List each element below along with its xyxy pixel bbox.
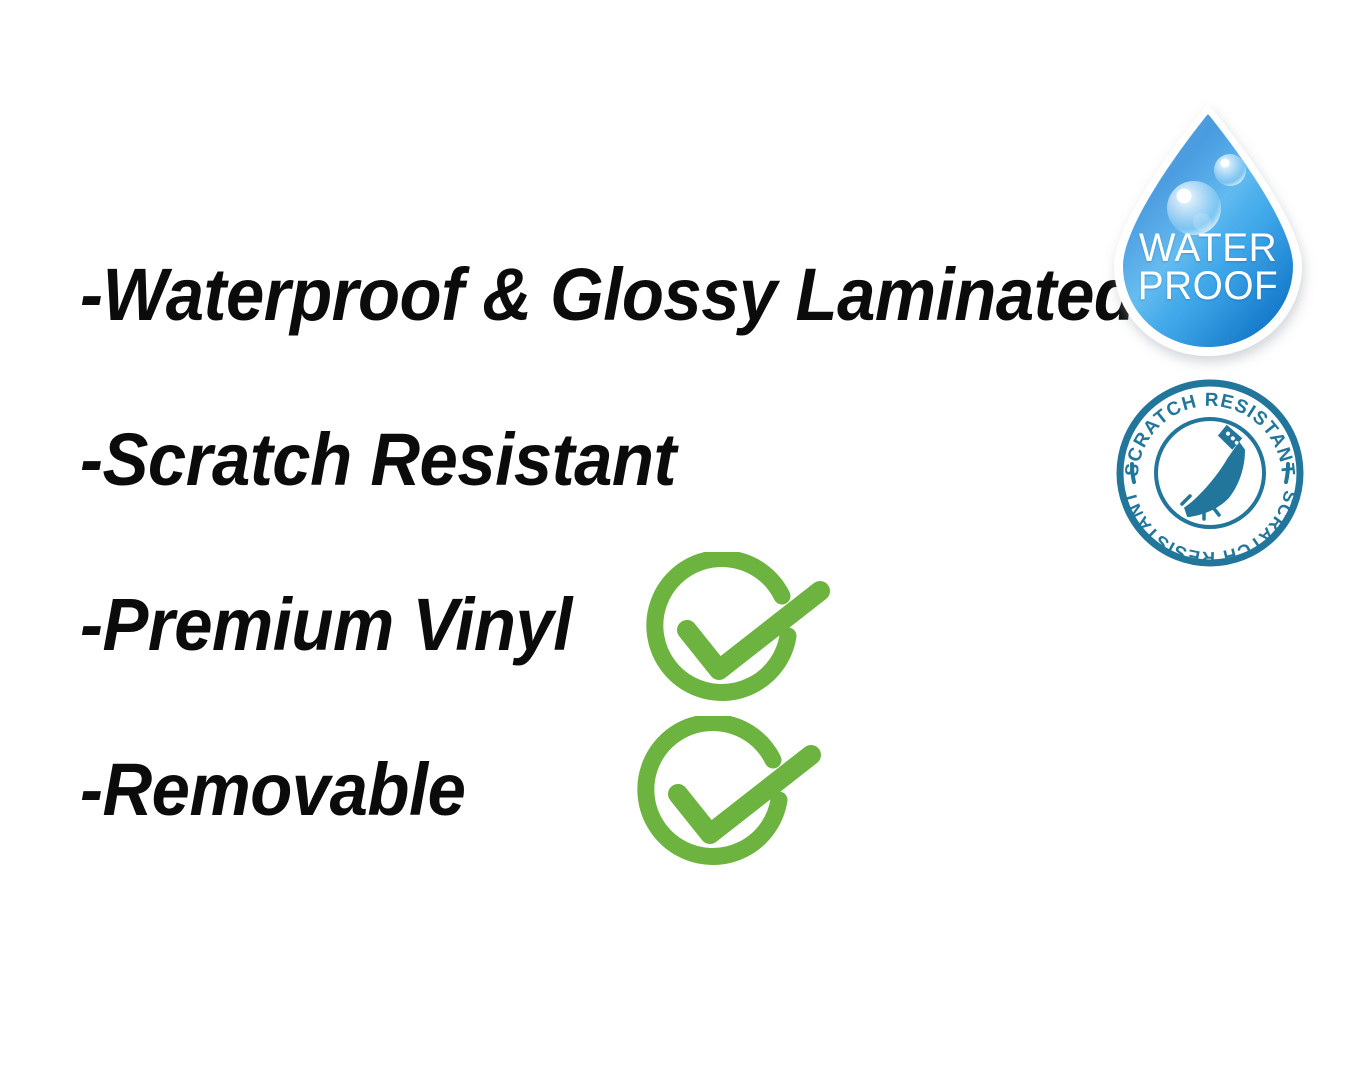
waterproof-badge: WATER PROOF (1096, 98, 1320, 376)
scratch-resistant-badge: SCRATCH RESISTANT SCRATCH RESISTANT (1112, 378, 1308, 568)
feature-list: -Waterproof & Glossy Laminated -Scratch … (0, 0, 1100, 1080)
feature-item-scratch-resistant: -Scratch Resistant (80, 423, 676, 497)
check-circle-icon (646, 722, 811, 856)
feature-item-premium-vinyl: -Premium Vinyl (80, 588, 572, 662)
feature-callout-graphic: -Waterproof & Glossy Laminated -Scratch … (0, 0, 1359, 1080)
feature-item-removable: -Removable (80, 753, 465, 827)
check-badge-removable (628, 716, 828, 881)
check-badge-premium-vinyl (637, 552, 837, 717)
feature-item-waterproof-glossy-laminated: -Waterproof & Glossy Laminated (80, 258, 1135, 332)
check-circle-icon (655, 558, 820, 692)
